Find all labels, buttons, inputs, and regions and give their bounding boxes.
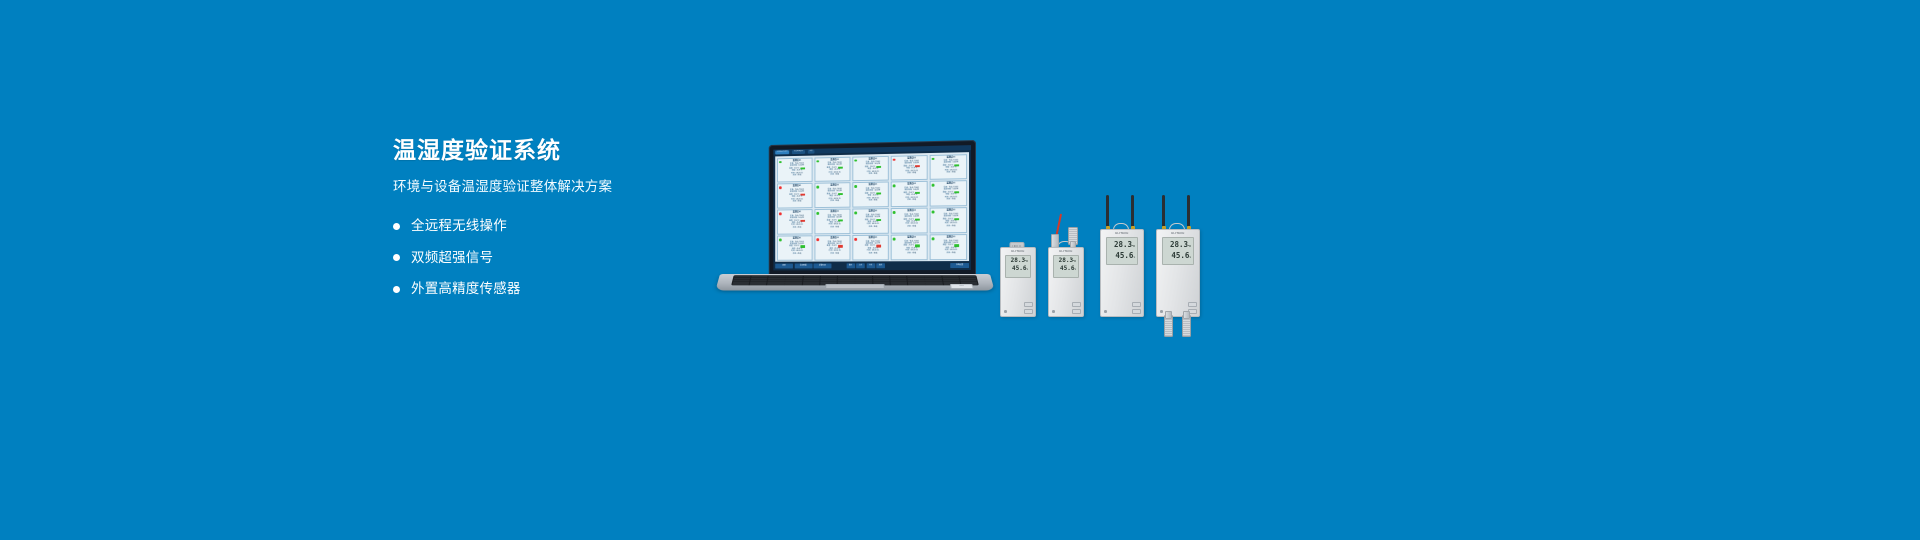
laptop-product-image: 温湿度实时监控 历史数据查询 报警 监测点01设备:节点-T1001采样间隔:1… <box>720 140 990 300</box>
list-item: 外置高精度传感器 <box>393 282 723 296</box>
monitor-card-row: 状态:在线 <box>859 199 887 202</box>
row-value: 在线 <box>835 252 839 254</box>
monitor-card[interactable]: 监测点01设备:节点-T1001采样间隔:10分钟温度:25.6℃正常湿度:45… <box>814 235 851 260</box>
status-led-icon <box>932 211 934 214</box>
page-last-button[interactable]: 末页 <box>876 263 885 268</box>
status-led-icon <box>779 161 781 163</box>
row-key: 状态: <box>907 172 911 174</box>
status-led-icon <box>854 159 856 161</box>
monitor-card-row: 状态:在线 <box>859 226 887 229</box>
keyboard-key[interactable] <box>767 284 784 286</box>
temperature-reading: 28.3℃ <box>1054 257 1078 265</box>
device-button-up[interactable] <box>1132 302 1141 308</box>
humidity-reading: 45.6% <box>1163 251 1193 262</box>
status-led-icon <box>932 157 934 160</box>
row-value: 在线 <box>952 171 956 173</box>
keyboard-key[interactable] <box>802 284 819 286</box>
monitor-card[interactable]: 监测点01设备:节点-T1001采样间隔:10分钟温度:25.6℃正常湿度:45… <box>930 234 968 259</box>
monitor-card[interactable]: 监测点01设备:节点-T1001采样间隔:10分钟温度:25.6℃正常湿度:45… <box>814 209 851 234</box>
keyboard-key[interactable] <box>732 284 749 286</box>
keyboard-key[interactable] <box>750 284 767 286</box>
keyboard-key[interactable] <box>785 284 802 286</box>
row-value: 在线 <box>912 225 916 227</box>
monitor-card-row: 状态:在线 <box>936 252 965 255</box>
device-lcd: 28.3℃ 45.6% <box>1005 255 1031 278</box>
keyboard-key[interactable] <box>908 284 925 286</box>
monitor-card[interactable]: 监测点01设备:节点-T1001采样间隔:10分钟温度:25.6℃正常湿度:45… <box>930 207 968 233</box>
row-value: 在线 <box>798 174 802 176</box>
row-key: 状态: <box>946 225 950 227</box>
status-led-icon <box>816 186 818 188</box>
humidity-reading: 45.6% <box>1054 265 1078 273</box>
monitor-card-row: 状态:在线 <box>783 174 811 177</box>
monitor-card[interactable]: 监测点01设备:节点-T1001采样间隔:10分钟温度:25.6℃正常湿度:45… <box>777 157 813 182</box>
monitor-grid-wrap: 监测点01设备:节点-T1001采样间隔:10分钟温度:25.6℃正常湿度:45… <box>775 152 969 262</box>
temperature-reading: 28.3℃ <box>1107 240 1137 251</box>
monitor-card[interactable]: 监测点01设备:节点-T1001采样间隔:10分钟温度:25.6℃正常湿度:45… <box>852 155 889 181</box>
page-first-button[interactable]: 首页 <box>846 263 855 268</box>
device-button-down[interactable] <box>1024 309 1033 315</box>
monitor-card-row: 状态:在线 <box>936 198 965 201</box>
list-item: 全远程无线操作 <box>393 219 723 233</box>
row-value: 在线 <box>835 174 839 176</box>
device-probe-logger: ELITECH 28.3℃ 45.6% <box>1048 247 1082 315</box>
monitor-card-row: 状态:在线 <box>897 172 926 175</box>
device-lcd: 28.3℃ 45.6% <box>1106 237 1138 265</box>
monitor-card-row: 状态:在线 <box>859 173 887 176</box>
row-key: 状态: <box>830 174 834 176</box>
row-value: 在线 <box>874 226 878 228</box>
export-button[interactable]: 导出数据 <box>794 263 812 268</box>
keyboard-key[interactable] <box>890 284 907 286</box>
device-brand: ELITECH <box>1101 230 1143 235</box>
monitor-card-row: 状态:在线 <box>859 252 887 255</box>
row-key: 状态: <box>869 226 873 228</box>
temperature-reading: 28.3℃ <box>1006 257 1030 265</box>
monitor-card[interactable]: 监测点01设备:节点-T1001采样间隔:10分钟温度:25.6℃正常湿度:45… <box>777 183 813 208</box>
monitor-card[interactable]: 监测点01设备:节点-T1001采样间隔:10分钟温度:25.6℃正常湿度:45… <box>891 155 929 181</box>
row-key: 状态: <box>869 252 873 254</box>
keyboard-key[interactable] <box>926 284 943 286</box>
indicator-led-icon <box>1160 310 1163 313</box>
status-led-icon <box>816 212 818 214</box>
page-subtitle: 环境与设备温湿度验证整体解决方案 <box>393 179 723 195</box>
row-value: 在线 <box>874 252 878 254</box>
monitor-card-row: 状态:在线 <box>821 226 849 229</box>
indicator-led-icon <box>1104 310 1107 313</box>
monitor-card[interactable]: 监测点01设备:节点-T1001采样间隔:10分钟温度:25.6℃正常湿度:45… <box>852 235 889 260</box>
monitor-card[interactable]: 监测点01设备:节点-T1001采样间隔:10分钟温度:25.6℃正常湿度:45… <box>814 156 851 181</box>
laptop-trackpad[interactable] <box>825 284 885 289</box>
status-led-icon <box>779 213 781 215</box>
monitor-card-row: 状态:在线 <box>897 225 926 228</box>
settings-button[interactable]: 系统设置 <box>950 263 969 268</box>
feature-label: 双频超强信号 <box>411 251 493 265</box>
list-item: 双频超强信号 <box>393 251 723 265</box>
monitor-card[interactable]: 监测点01设备:节点-T1001采样间隔:10分钟温度:25.6℃正常湿度:45… <box>930 181 968 207</box>
monitor-card-row: 状态:在线 <box>783 200 811 203</box>
row-key: 状态: <box>946 252 950 254</box>
feature-label: 外置高精度传感器 <box>411 282 521 296</box>
status-led-icon <box>854 185 856 187</box>
banner-copy: 温湿度验证系统 环境与设备温湿度验证整体解决方案 全远程无线操作 双频超强信号 … <box>393 138 723 314</box>
monitor-card[interactable]: 监测点01设备:节点-T1001采样间隔:10分钟温度:25.6℃正常湿度:45… <box>891 235 929 260</box>
device-button-up[interactable] <box>1072 302 1081 308</box>
alarm-log-button[interactable]: 报警记录 <box>814 263 832 268</box>
monitor-card-row: 状态:在线 <box>897 252 926 255</box>
humidity-reading: 45.6% <box>1107 251 1137 262</box>
row-key: 状态: <box>907 252 911 254</box>
monitor-card[interactable]: 监测点01设备:节点-T1001采样间隔:10分钟温度:25.6℃正常湿度:45… <box>852 182 889 207</box>
probe-stem-left <box>1165 311 1172 319</box>
tab-realtime[interactable]: 温湿度实时监控 <box>775 150 789 154</box>
row-key: 状态: <box>793 253 797 255</box>
monitor-card[interactable]: 监测点01设备:节点-T1001采样间隔:10分钟温度:25.6℃正常湿度:45… <box>891 181 929 207</box>
device-keypad[interactable] <box>1072 302 1081 315</box>
status-led-icon <box>854 238 856 240</box>
row-value: 在线 <box>912 252 916 254</box>
device-brand: ELITECH <box>1049 248 1083 253</box>
indicator-led-icon <box>1004 310 1007 313</box>
row-key: 状态: <box>830 226 834 228</box>
laptop-lid: 温湿度实时监控 历史数据查询 报警 监测点01设备:节点-T1001采样间隔:1… <box>769 140 976 282</box>
row-value: 在线 <box>952 252 956 254</box>
monitor-card[interactable]: 监测点01设备:节点-T1001采样间隔:10分钟温度:25.6℃正常湿度:45… <box>930 154 968 180</box>
status-led-icon <box>893 185 895 188</box>
device-wireless-transmitter: ELITECH 28.3℃ 45.6% <box>1100 229 1142 315</box>
temperature-reading: 28.3℃ <box>1163 240 1193 251</box>
row-value: 在线 <box>835 226 839 228</box>
status-led-icon <box>893 211 895 213</box>
page-title: 温湿度验证系统 <box>393 138 723 163</box>
row-value: 在线 <box>798 226 802 228</box>
page-next-button[interactable]: 下页 <box>866 263 875 268</box>
device-brand: ELITECH <box>1157 230 1199 235</box>
row-key: 状态: <box>946 198 950 200</box>
tab-alarm[interactable]: 报警 <box>808 149 815 153</box>
monitor-card-row: 状态:在线 <box>897 199 926 202</box>
monitor-card[interactable]: 监测点01设备:节点-T1001采样间隔:10分钟温度:25.6℃正常湿度:45… <box>777 235 813 260</box>
antenna-right-icon <box>1187 195 1190 227</box>
device-keypad[interactable] <box>1132 302 1141 315</box>
row-key: 状态: <box>793 200 797 202</box>
antenna-right-icon <box>1131 195 1134 227</box>
status-led-icon <box>854 212 856 214</box>
device-lcd: 28.3℃ 45.6% <box>1162 237 1194 265</box>
device-brand: ELITECH <box>1001 248 1035 253</box>
row-value: 在线 <box>874 199 878 201</box>
row-key: 状态: <box>907 225 911 227</box>
laptop-screen: 温湿度实时监控 历史数据查询 报警 监测点01设备:节点-T1001采样间隔:1… <box>773 145 971 270</box>
monitor-card[interactable]: 监测点01设备:节点-T1001采样间隔:10分钟温度:25.6℃正常湿度:45… <box>852 208 889 233</box>
monitor-card-row: 状态:在线 <box>821 200 849 203</box>
indicator-led-icon <box>1052 310 1055 313</box>
device-keypad[interactable] <box>1024 302 1033 315</box>
status-led-icon <box>779 239 781 241</box>
bullet-dot-icon <box>393 223 400 230</box>
status-led-icon <box>893 158 895 161</box>
antenna-left-icon <box>1106 195 1109 227</box>
monitor-card[interactable]: 监测点01设备:节点-T1001采样间隔:10分钟温度:25.6℃正常湿度:45… <box>891 208 929 233</box>
dashboard-toolbar: 刷新 导出数据 报警记录 首页 上页 下页 末页 系统设置 <box>775 262 969 268</box>
feature-list: 全远程无线操作 双频超强信号 外置高精度传感器 <box>393 219 723 296</box>
monitor-card-row: 状态:在线 <box>783 253 811 255</box>
status-led-icon <box>779 187 781 189</box>
row-value: 在线 <box>798 253 802 255</box>
device-button-up[interactable] <box>1024 302 1033 308</box>
device-button-down[interactable] <box>1072 309 1081 315</box>
refresh-button[interactable]: 刷新 <box>775 263 793 268</box>
bullet-dot-icon <box>393 254 400 261</box>
row-key: 状态: <box>793 174 797 176</box>
device-lcd: 28.3℃ 45.6% <box>1053 255 1079 278</box>
monitor-card-row: 状态:在线 <box>783 226 811 229</box>
monitor-card[interactable]: 监测点01设备:节点-T1001采样间隔:10分钟温度:25.6℃正常湿度:45… <box>814 183 851 208</box>
row-value: 在线 <box>952 225 956 227</box>
row-key: 状态: <box>869 199 873 201</box>
probe-stem-right <box>1183 311 1190 319</box>
row-key: 状态: <box>830 252 834 254</box>
monitor-card-row: 状态:在线 <box>936 225 965 228</box>
tab-history[interactable]: 历史数据查询 <box>792 149 805 153</box>
device-wireless-probe-transmitter: ELITECH 28.3℃ 45.6% <box>1156 229 1198 315</box>
status-led-icon <box>932 237 934 239</box>
row-key: 状态: <box>907 199 911 201</box>
page-prev-button[interactable]: 上页 <box>856 263 865 268</box>
row-value: 在线 <box>798 200 802 202</box>
device-button-down[interactable] <box>1132 309 1141 315</box>
row-value: 在线 <box>952 198 956 200</box>
row-value: 在线 <box>912 172 916 174</box>
status-led-icon <box>816 238 818 240</box>
device-data-logger: ELITECH 28.3℃ 45.6% <box>1000 247 1034 315</box>
laptop-base: intel <box>715 274 994 291</box>
product-banner: 温湿度验证系统 环境与设备温湿度验证整体解决方案 全远程无线操作 双频超强信号 … <box>0 0 1920 540</box>
status-led-icon <box>816 160 818 162</box>
monitor-card-row: 状态:在线 <box>821 173 849 176</box>
monitor-card-row: 状态:在线 <box>936 171 965 174</box>
humidity-reading: 45.6% <box>1006 265 1030 273</box>
antenna-left-icon <box>1162 195 1165 227</box>
monitor-card-grid: 监测点01设备:节点-T1001采样间隔:10分钟温度:25.6℃正常湿度:45… <box>777 154 968 261</box>
row-key: 状态: <box>830 200 834 202</box>
row-value: 在线 <box>874 173 878 175</box>
monitor-card-row: 状态:在线 <box>821 252 849 254</box>
row-key: 状态: <box>793 227 797 229</box>
row-value: 在线 <box>835 200 839 202</box>
sensor-device-group: ELITECH 28.3℃ 45.6% <box>1000 180 1215 315</box>
intel-sticker: intel <box>950 284 974 289</box>
device-button-up[interactable] <box>1188 302 1197 308</box>
row-key: 状态: <box>869 173 873 175</box>
feature-label: 全远程无线操作 <box>411 219 507 233</box>
status-led-icon <box>893 238 895 240</box>
monitor-card[interactable]: 监测点01设备:节点-T1001采样间隔:10分钟温度:25.6℃正常湿度:45… <box>777 209 813 234</box>
row-value: 在线 <box>912 199 916 201</box>
row-key: 状态: <box>946 172 950 174</box>
status-led-icon <box>932 184 934 187</box>
bullet-dot-icon <box>393 286 400 293</box>
